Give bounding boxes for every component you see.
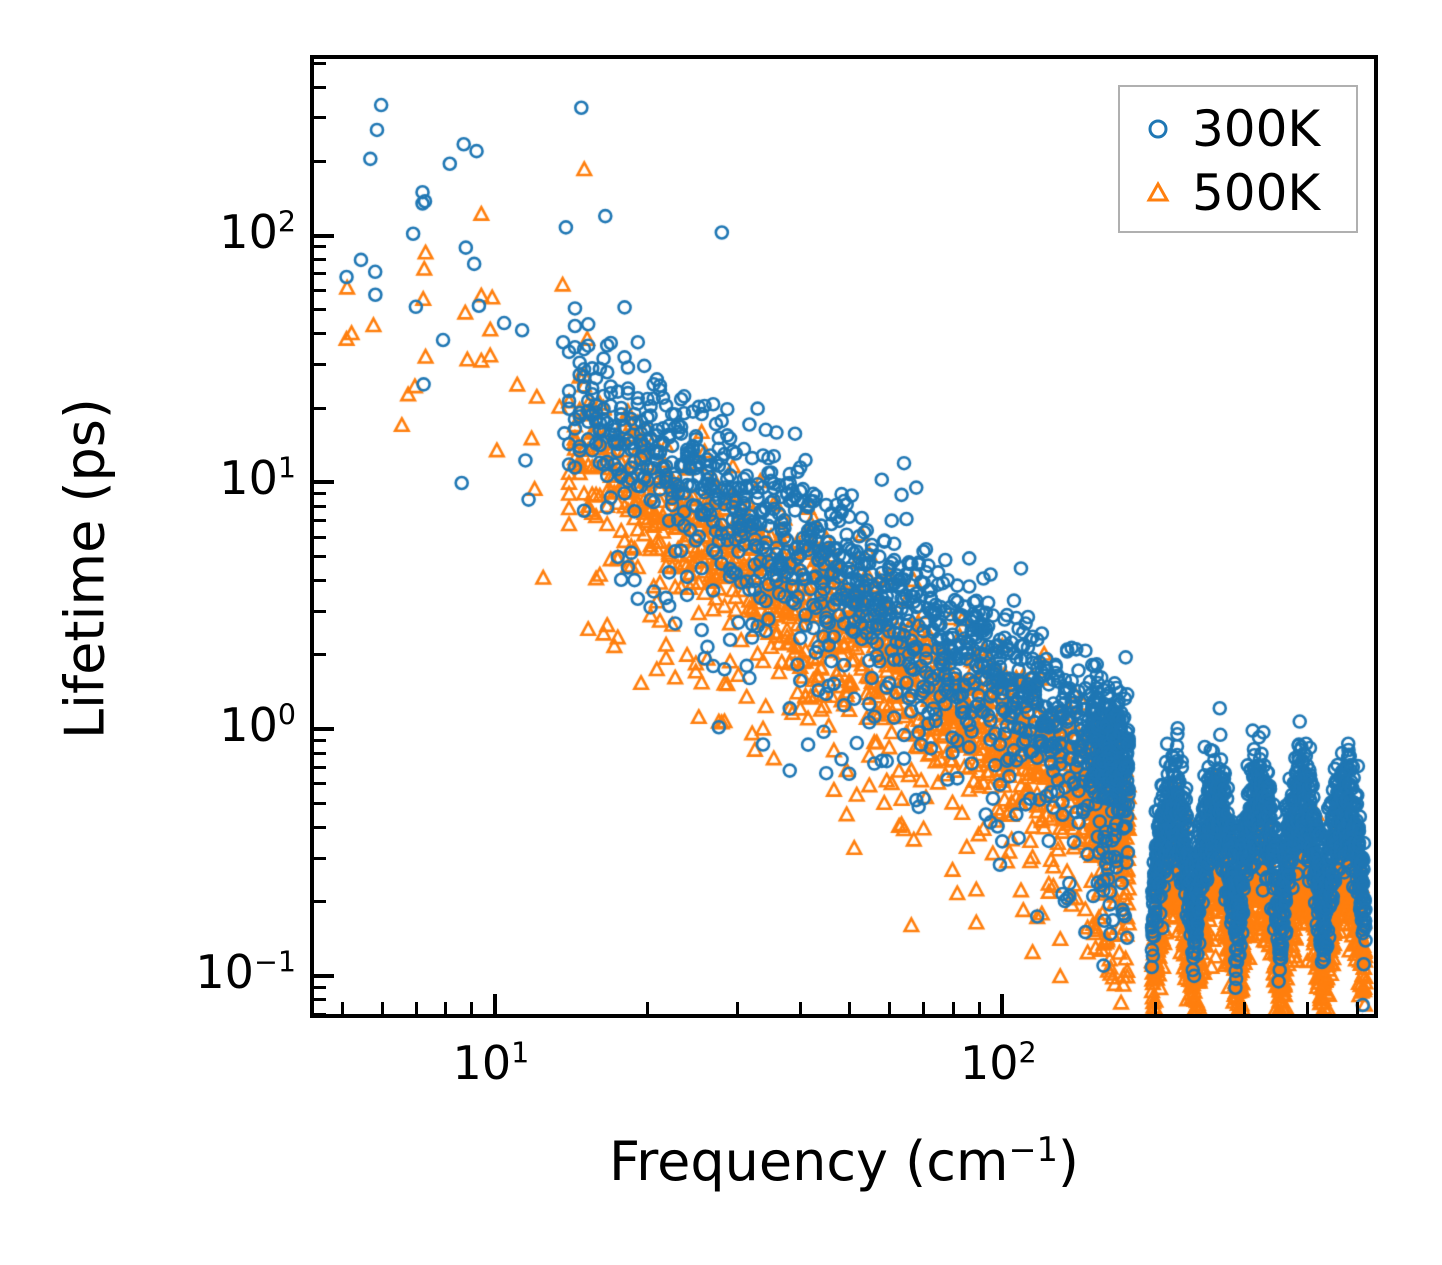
y-tick-label: 101 [219, 455, 296, 501]
x-major-tick [493, 994, 497, 1014]
y-minor-tick [314, 555, 326, 558]
triangle-open-marker-icon [1134, 180, 1182, 206]
legend-entry-300k[interactable]: 300K [1120, 97, 1356, 161]
x-minor-tick [736, 1002, 739, 1014]
x-minor-tick [415, 1002, 418, 1014]
x-minor-tick [470, 1002, 473, 1014]
legend-label-500k: 500K [1182, 164, 1320, 222]
x-minor-tick [848, 1002, 851, 1014]
y-minor-tick [314, 407, 326, 410]
y-major-tick [314, 480, 334, 484]
y-minor-tick [314, 857, 326, 860]
legend-box[interactable]: 300K 500K [1118, 85, 1358, 233]
y-minor-tick [314, 986, 326, 989]
y-minor-tick [314, 308, 326, 311]
y-tick-label: 100 [219, 702, 296, 748]
x-minor-tick [1306, 1002, 1309, 1014]
x-tick-label: 102 [960, 1040, 1037, 1086]
y-minor-tick [314, 610, 326, 613]
x-axis-label: Frequency (cm−1) [310, 1130, 1378, 1193]
y-tick-label: 102 [219, 209, 296, 255]
y-minor-tick [314, 766, 326, 769]
y-minor-tick [314, 363, 326, 366]
x-minor-tick [922, 1002, 925, 1014]
phonon-lifetime-scatter-figure: 10−1100101102 101102 Lifetime (ps) Frequ… [0, 0, 1442, 1265]
x-minor-tick [978, 1002, 981, 1014]
y-minor-tick [314, 536, 326, 539]
y-minor-tick [314, 739, 326, 742]
y-minor-tick [314, 752, 326, 755]
y-minor-tick [314, 505, 326, 508]
y-minor-tick [314, 653, 326, 656]
x-minor-tick [1154, 1002, 1157, 1014]
legend-entry-500k[interactable]: 500K [1120, 161, 1356, 225]
y-minor-tick [314, 86, 326, 89]
y-minor-tick [314, 272, 326, 275]
y-minor-tick [314, 782, 326, 785]
y-minor-tick [314, 579, 326, 582]
y-major-tick [314, 727, 334, 731]
y-minor-tick [314, 826, 326, 829]
y-minor-tick [314, 332, 326, 335]
x-minor-tick [341, 1002, 344, 1014]
y-minor-tick [314, 1013, 326, 1016]
x-minor-tick [381, 1002, 384, 1014]
x-minor-tick [444, 1002, 447, 1014]
y-minor-tick [314, 802, 326, 805]
y-minor-tick [314, 116, 326, 119]
x-tick-label: 101 [453, 1040, 530, 1086]
y-axis-label: Lifetime (ps) [54, 169, 117, 969]
y-minor-tick [314, 998, 326, 1001]
y-tick-label: 10−1 [195, 949, 296, 995]
legend-label-300k: 300K [1182, 100, 1320, 158]
y-minor-tick [314, 245, 326, 248]
y-major-tick [314, 234, 334, 238]
y-minor-tick [314, 160, 326, 163]
y-minor-tick [314, 289, 326, 292]
x-minor-tick [888, 1002, 891, 1014]
x-minor-tick [952, 1002, 955, 1014]
x-minor-tick [1356, 1002, 1359, 1014]
y-minor-tick [314, 62, 326, 65]
x-major-tick [1000, 994, 1004, 1014]
circle-open-marker-icon [1134, 116, 1182, 142]
y-minor-tick [314, 492, 326, 495]
y-major-tick [314, 974, 334, 978]
y-minor-tick [314, 519, 326, 522]
x-minor-tick [799, 1002, 802, 1014]
x-minor-tick [646, 1002, 649, 1014]
y-tick-labels: 10−1100101102 [0, 0, 296, 1265]
x-minor-tick [1243, 1002, 1246, 1014]
y-minor-tick [314, 900, 326, 903]
y-minor-tick [314, 258, 326, 261]
